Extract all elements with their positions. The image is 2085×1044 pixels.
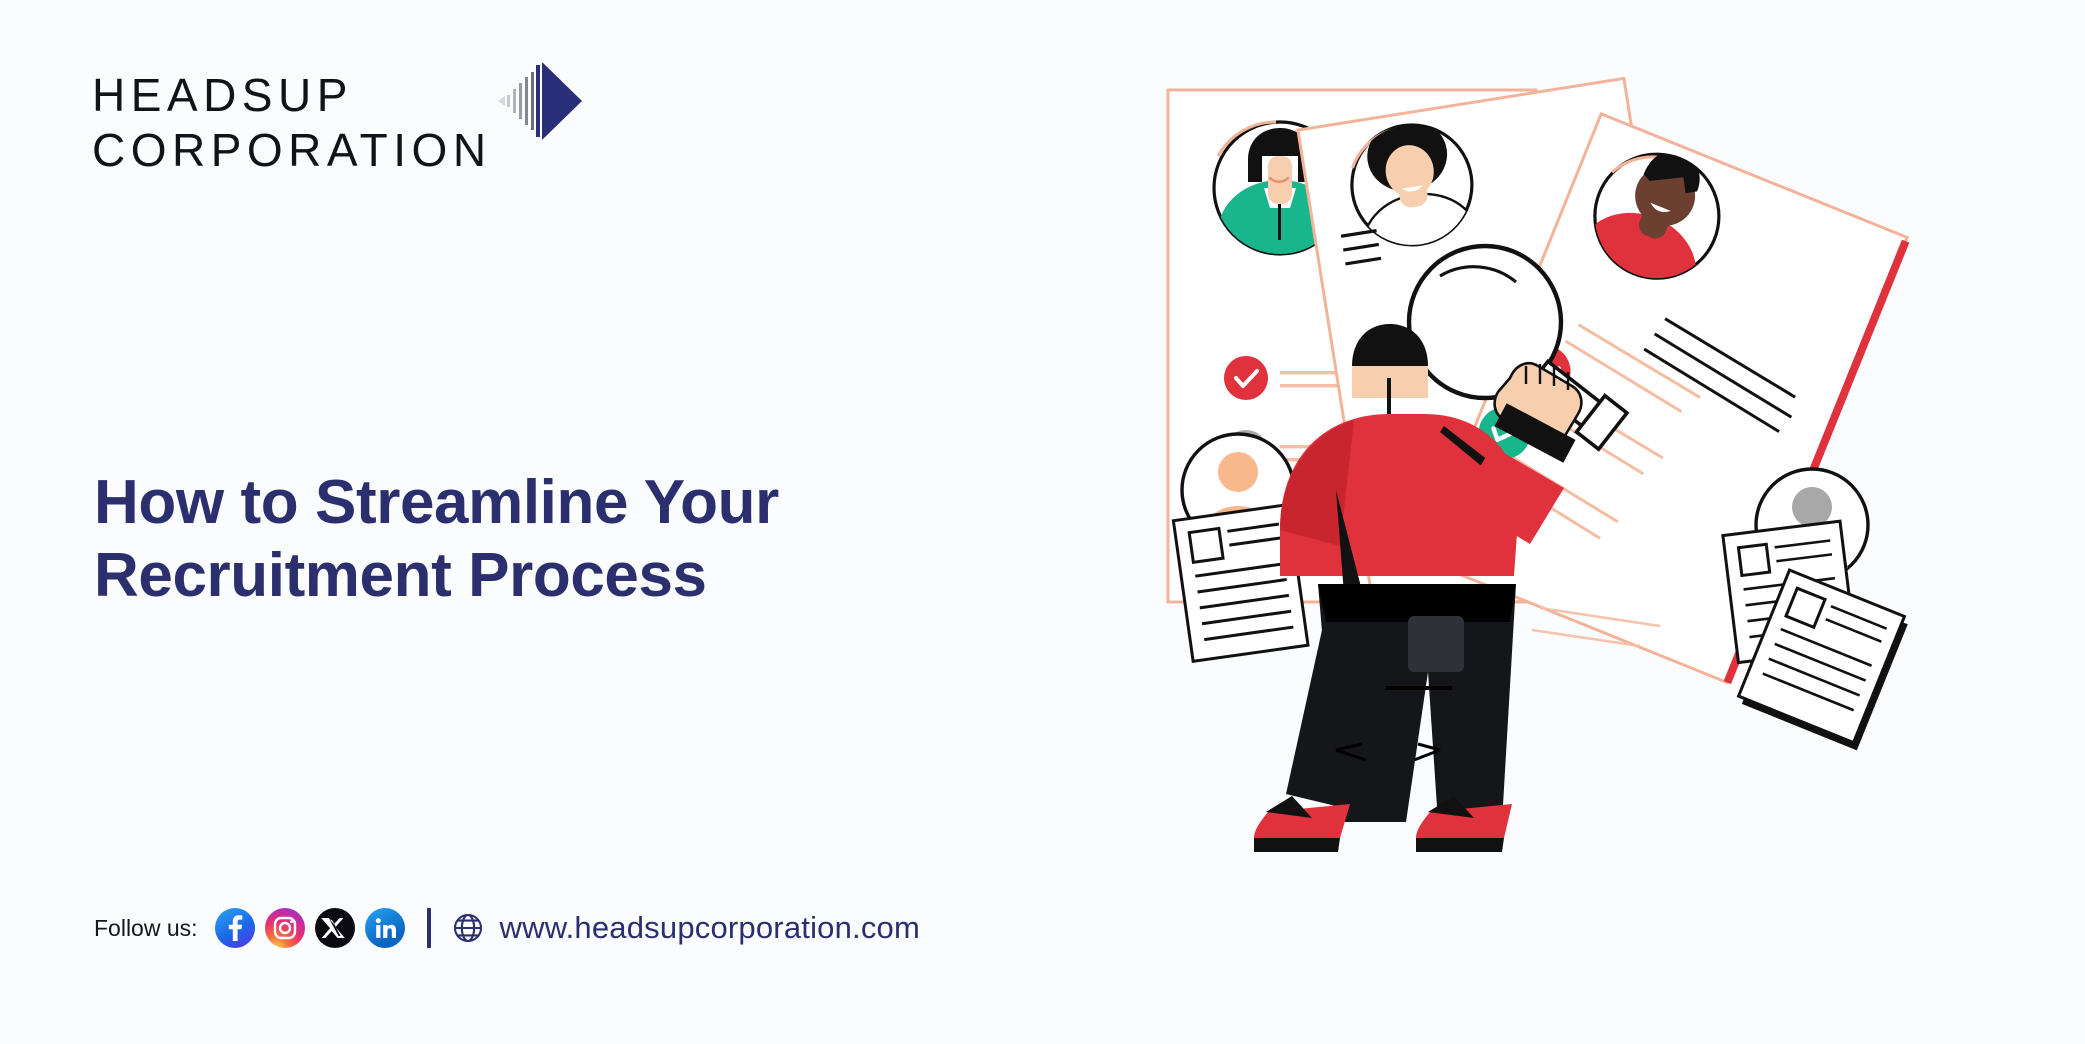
footer-bar: Follow us: (94, 908, 920, 948)
logo-line-1: HEADSUP (92, 72, 492, 118)
website-url[interactable]: www.headsupcorporation.com (500, 910, 920, 946)
logo-line-2: CORPORATION (92, 127, 492, 173)
footer-divider (427, 908, 431, 948)
follow-us-label: Follow us: (94, 915, 198, 942)
social-links (215, 908, 405, 948)
headline-line-1: How to Streamline Your (94, 466, 994, 539)
facebook-icon[interactable] (215, 908, 255, 948)
x-twitter-icon[interactable] (315, 908, 355, 948)
navy-diamond-motion-mark-icon (496, 58, 582, 144)
globe-icon (451, 911, 485, 945)
page-title: How to Streamline Your Recruitment Proce… (94, 466, 994, 612)
logo-wordmark: HEADSUP CORPORATION (92, 72, 492, 173)
headline-line-2: Recruitment Process (94, 539, 994, 612)
recruitment-resume-screening-illustration (1140, 60, 2070, 990)
banner-canvas: HEADSUP CORPORATION How to Streamline Yo… (0, 0, 2085, 1044)
brand-logo: HEADSUP CORPORATION (92, 72, 582, 173)
instagram-icon[interactable] (265, 908, 305, 948)
linkedin-icon[interactable] (365, 908, 405, 948)
